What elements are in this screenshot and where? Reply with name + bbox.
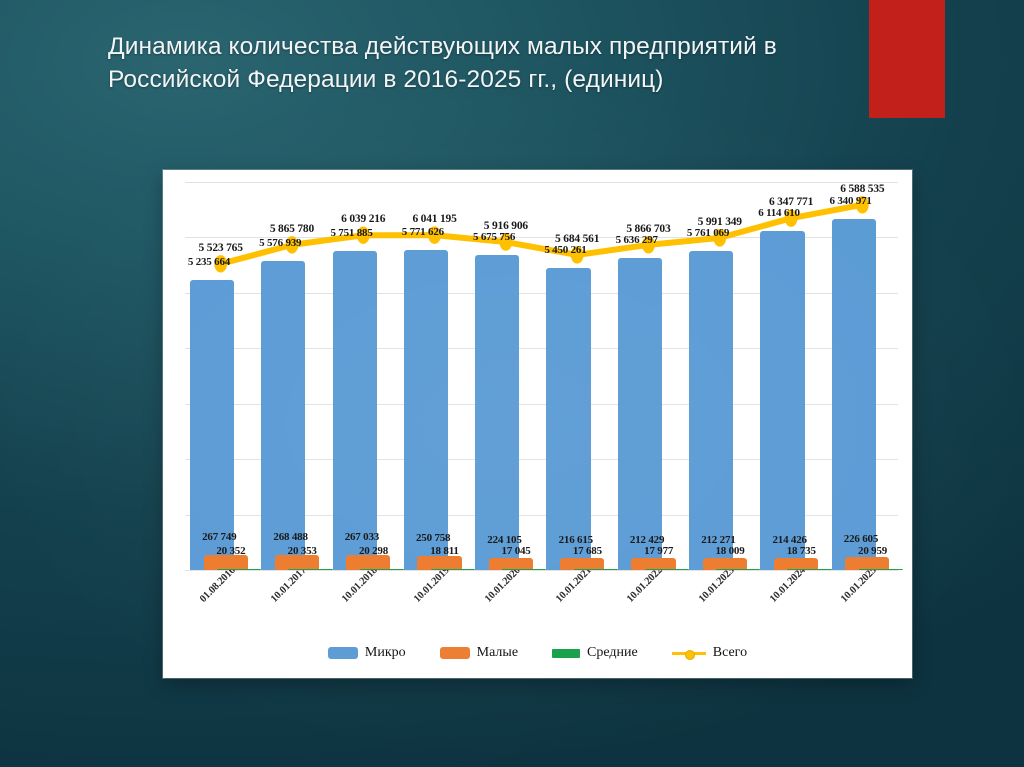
x-axis-tick: 10.01.2024 — [755, 570, 826, 632]
legend-swatch-micro — [328, 647, 358, 659]
bar-medium-label: 17 685 — [573, 545, 602, 557]
bar-medium-label: 20 959 — [858, 545, 887, 557]
x-axis-tick-label: 10.01.2018 — [340, 565, 380, 605]
bar-group[interactable]: 5 576 939268 48820 353 — [256, 182, 327, 570]
bar-medium[interactable] — [574, 569, 618, 570]
bar-micro[interactable] — [618, 258, 662, 570]
bar-micro[interactable] — [760, 231, 804, 570]
bar-micro-label: 5 751 885 — [330, 227, 372, 239]
bar-micro-label: 5 235 664 — [188, 256, 230, 268]
legend-label: Малые — [477, 645, 518, 661]
chart-legend: МикроМалыеСредниеВсего — [163, 636, 912, 670]
bar-group[interactable]: 5 235 664267 74920 352 — [185, 182, 256, 570]
bar-micro[interactable] — [546, 268, 590, 570]
bar-medium[interactable] — [859, 569, 903, 570]
legend-label: Микро — [365, 645, 406, 661]
legend-swatch-medium — [552, 649, 580, 658]
bar-group[interactable]: 5 751 885267 03320 298 — [328, 182, 399, 570]
bar-medium-label: 20 353 — [288, 545, 317, 557]
total-value-label: 5 865 780 — [270, 223, 314, 235]
bar-small-label: 250 758 — [416, 532, 450, 544]
bar-small-label: 268 488 — [273, 531, 307, 543]
bar-micro-label: 5 450 261 — [544, 244, 586, 256]
legend-item-total[interactable]: Всего — [672, 645, 747, 661]
presentation-slide: Динамика количества действующих малых пр… — [0, 0, 1024, 767]
bar-small[interactable] — [204, 555, 248, 570]
bar-medium[interactable] — [217, 569, 261, 570]
x-axis: 01.08.201610.01.201710.01.201810.01.2019… — [185, 570, 898, 632]
total-value-label: 5 991 349 — [698, 216, 742, 228]
total-value-label: 5 523 765 — [199, 242, 243, 254]
x-axis-tick: 10.01.2017 — [256, 570, 327, 632]
red-accent-block — [869, 0, 945, 118]
x-axis-tick: 10.01.2025 — [827, 570, 898, 632]
bar-medium[interactable] — [787, 569, 831, 570]
legend-swatch-total — [672, 647, 706, 659]
bar-micro[interactable] — [333, 251, 377, 570]
bar-small-label: 224 105 — [487, 534, 521, 546]
x-axis-tick-label: 10.01.2020 — [483, 565, 523, 605]
x-axis-tick: 10.01.2023 — [684, 570, 755, 632]
bar-medium-label: 17 045 — [502, 545, 531, 557]
bar-group[interactable]: 5 636 297212 42917 977 — [613, 182, 684, 570]
bar-group[interactable]: 5 761 069212 27118 009 — [684, 182, 755, 570]
bar-small[interactable] — [346, 555, 390, 570]
bar-medium-label: 18 811 — [430, 545, 458, 557]
legend-item-medium[interactable]: Средние — [552, 645, 638, 661]
bar-group[interactable]: 6 340 971226 60520 959 — [827, 182, 898, 570]
bar-group[interactable]: 6 114 610214 42618 735 — [755, 182, 826, 570]
bar-medium[interactable] — [645, 569, 689, 570]
total-value-label: 6 039 216 — [341, 213, 385, 225]
bar-medium[interactable] — [502, 569, 546, 570]
bar-medium[interactable] — [288, 569, 332, 570]
legend-item-micro[interactable]: Микро — [328, 645, 406, 661]
x-axis-tick-label: 10.01.2021 — [554, 565, 594, 605]
bar-medium-label: 18 009 — [715, 545, 744, 557]
x-axis-tick-label: 10.01.2019 — [411, 565, 451, 605]
slide-title: Динамика количества действующих малых пр… — [108, 30, 868, 96]
bar-medium-label: 18 735 — [787, 545, 816, 557]
x-axis-tick-label: 10.01.2023 — [697, 565, 737, 605]
bar-micro-label: 5 636 297 — [616, 234, 658, 246]
x-axis-tick: 10.01.2018 — [328, 570, 399, 632]
bar-micro[interactable] — [475, 255, 519, 570]
x-axis-tick-label: 10.01.2024 — [768, 565, 808, 605]
chart-panel: 5 235 664267 74920 3525 576 939268 48820… — [163, 170, 912, 678]
bar-medium-label: 20 352 — [216, 545, 245, 557]
bar-micro-label: 6 340 971 — [830, 195, 872, 207]
bar-small-label: 267 749 — [202, 531, 236, 543]
bar-micro[interactable] — [404, 250, 448, 570]
bar-group[interactable]: 5 675 756224 10517 045 — [470, 182, 541, 570]
bar-medium-label: 17 977 — [644, 545, 673, 557]
total-value-label: 5 916 906 — [484, 220, 528, 232]
bar-micro[interactable] — [832, 219, 876, 570]
legend-item-small[interactable]: Малые — [440, 645, 518, 661]
legend-swatch-small — [440, 647, 470, 659]
legend-label: Средние — [587, 645, 638, 661]
bar-micro-label: 6 114 610 — [758, 207, 800, 219]
bar-small-label: 226 605 — [844, 533, 878, 545]
x-axis-tick: 10.01.2019 — [399, 570, 470, 632]
bar-micro[interactable] — [261, 261, 305, 570]
total-value-label: 5 866 703 — [626, 223, 670, 235]
bar-micro[interactable] — [689, 251, 733, 570]
bar-small[interactable] — [275, 555, 319, 570]
x-axis-tick-label: 10.01.2022 — [625, 565, 665, 605]
legend-label: Всего — [713, 645, 747, 661]
bar-micro-label: 5 576 939 — [259, 237, 301, 249]
bar-groups: 5 235 664267 74920 3525 576 939268 48820… — [185, 182, 898, 570]
x-axis-tick: 10.01.2021 — [541, 570, 612, 632]
x-axis-tick-label: 10.01.2017 — [269, 565, 309, 605]
bar-micro[interactable] — [190, 280, 234, 570]
bar-group[interactable]: 5 771 626250 75818 811 — [399, 182, 470, 570]
bar-micro-label: 5 761 069 — [687, 227, 729, 239]
x-axis-tick: 10.01.2020 — [470, 570, 541, 632]
total-value-label: 6 041 195 — [412, 213, 456, 225]
bar-medium[interactable] — [360, 569, 404, 570]
bar-micro-label: 5 675 756 — [473, 231, 515, 243]
bar-medium-label: 20 298 — [359, 545, 388, 557]
x-axis-tick-label: 01.08.2016 — [198, 565, 238, 605]
bar-medium[interactable] — [431, 569, 475, 570]
total-value-label: 6 347 771 — [769, 196, 813, 208]
bar-medium[interactable] — [716, 569, 760, 570]
bar-micro-label: 5 771 626 — [402, 226, 444, 238]
bar-small-label: 267 033 — [345, 531, 379, 543]
bar-small[interactable] — [417, 556, 461, 570]
x-axis-tick-label: 10.01.2025 — [839, 565, 879, 605]
x-axis-tick: 10.01.2022 — [613, 570, 684, 632]
x-axis-tick: 01.08.2016 — [185, 570, 256, 632]
total-value-label: 5 684 561 — [555, 233, 599, 245]
total-value-label: 6 588 535 — [840, 183, 884, 195]
plot-area: 5 235 664267 74920 3525 576 939268 48820… — [185, 182, 898, 570]
